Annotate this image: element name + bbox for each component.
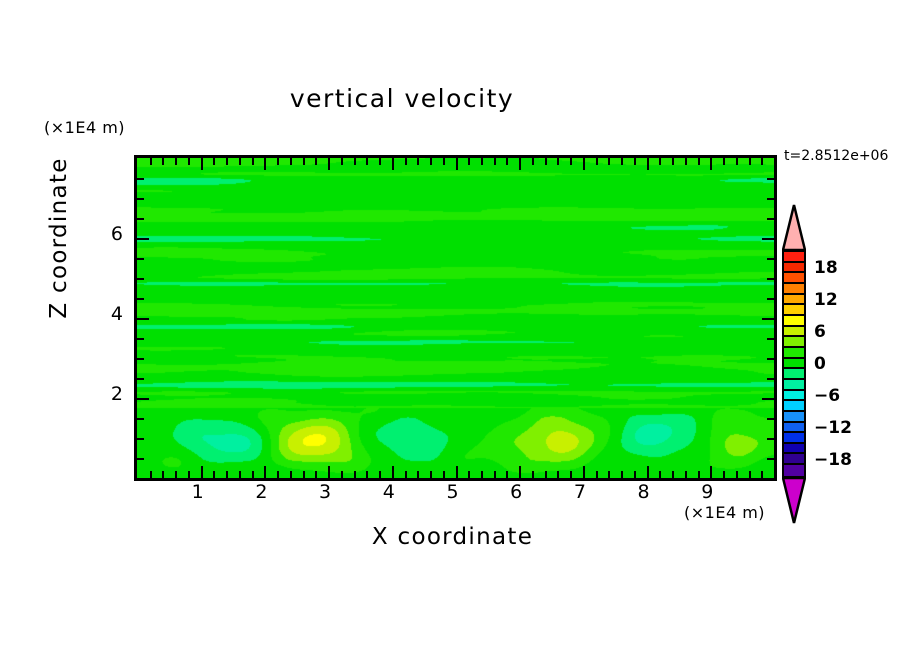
x-minor-tick [659, 471, 661, 478]
x-tick-label: 4 [369, 481, 409, 503]
x-tick-label: 2 [241, 481, 281, 503]
x-minor-tick-top [354, 158, 356, 165]
x-minor-tick-top [405, 158, 407, 165]
x-minor-tick [532, 471, 534, 478]
x-minor-tick-top [150, 158, 152, 165]
x-major-tick [456, 466, 458, 478]
y-minor-tick [137, 198, 144, 200]
x-minor-tick [405, 471, 407, 478]
y-tick-label: 6 [95, 223, 123, 245]
x-major-tick [519, 466, 521, 478]
x-minor-tick-top [672, 158, 674, 165]
x-minor-tick [430, 471, 432, 478]
x-axis-title: X coordinate [134, 524, 771, 550]
x-major-tick [647, 466, 649, 478]
colorbar-band [784, 295, 804, 306]
colorbar-band [784, 284, 804, 295]
x-minor-tick-top [736, 158, 738, 165]
x-minor-tick-top [481, 158, 483, 165]
x-major-tick-top [710, 158, 712, 170]
colorbar-tick-label: 12 [814, 290, 838, 310]
x-minor-tick [315, 471, 317, 478]
x-minor-tick-top [608, 158, 610, 165]
x-minor-tick [175, 471, 177, 478]
x-minor-tick [303, 471, 305, 478]
x-major-tick [583, 466, 585, 478]
page-title: vertical velocity [0, 84, 904, 113]
x-minor-tick [608, 471, 610, 478]
colorbar [782, 205, 806, 523]
colorbar-band [784, 252, 804, 263]
x-major-tick [201, 466, 203, 478]
x-tick-label: 7 [560, 481, 600, 503]
colorbar-band [784, 412, 804, 423]
x-minor-tick [162, 471, 164, 478]
x-minor-tick [341, 471, 343, 478]
x-minor-tick-top [341, 158, 343, 165]
x-minor-tick-top [685, 158, 687, 165]
y-major-tick-right [762, 318, 774, 320]
x-major-tick [328, 466, 330, 478]
colorbar-band [784, 423, 804, 434]
x-minor-tick-top [366, 158, 368, 165]
x-tick-label: 3 [305, 481, 345, 503]
x-minor-tick [188, 471, 190, 478]
y-axis-units-label: (×1E4 m) [44, 118, 125, 137]
x-minor-tick-top [417, 158, 419, 165]
y-minor-tick [137, 338, 144, 340]
y-minor-tick-right [767, 218, 774, 220]
colorbar-band [784, 359, 804, 370]
x-minor-tick [354, 471, 356, 478]
y-minor-tick-right [767, 198, 774, 200]
x-minor-tick-top [290, 158, 292, 165]
x-minor-tick-top [277, 158, 279, 165]
x-minor-tick [277, 471, 279, 478]
x-minor-tick [761, 471, 763, 478]
x-minor-tick-top [570, 158, 572, 165]
y-minor-tick [137, 358, 144, 360]
x-major-tick [264, 466, 266, 478]
x-minor-tick [634, 471, 636, 478]
x-minor-tick [213, 471, 215, 478]
y-minor-tick [137, 298, 144, 300]
x-minor-tick-top [761, 158, 763, 165]
x-minor-tick [506, 471, 508, 478]
y-minor-tick-right [767, 178, 774, 180]
colorbar-band [784, 433, 804, 444]
colorbar-band [784, 465, 804, 476]
x-minor-tick-top [723, 158, 725, 165]
x-major-tick-top [328, 158, 330, 170]
contour-plot-area [134, 155, 777, 481]
x-minor-tick-top [545, 158, 547, 165]
x-minor-tick-top [596, 158, 598, 165]
y-minor-tick-right [767, 438, 774, 440]
x-minor-tick-top [749, 158, 751, 165]
colorbar-band [784, 305, 804, 316]
x-minor-tick-top [621, 158, 623, 165]
x-minor-tick [570, 471, 572, 478]
y-minor-tick [137, 218, 144, 220]
colorbar-band [784, 380, 804, 391]
y-minor-tick-right [767, 418, 774, 420]
colorbar-tick-label: −18 [814, 450, 852, 470]
x-minor-tick-top [443, 158, 445, 165]
colorbar-band [784, 454, 804, 465]
colorbar-band [784, 337, 804, 348]
x-minor-tick [723, 471, 725, 478]
x-minor-tick [672, 471, 674, 478]
x-minor-tick [226, 471, 228, 478]
x-tick-label: 5 [433, 481, 473, 503]
x-minor-tick-top [162, 158, 164, 165]
colorbar-tick-label: −12 [814, 418, 852, 438]
colorbar-band [784, 316, 804, 327]
y-minor-tick [137, 418, 144, 420]
x-tick-label: 1 [178, 481, 218, 503]
x-minor-tick [596, 471, 598, 478]
x-tick-label: 6 [496, 481, 536, 503]
x-minor-tick [239, 471, 241, 478]
figure-root: vertical velocity (×1E4 m) (×1E4 m) t=2.… [0, 0, 904, 654]
x-major-tick-top [583, 158, 585, 170]
y-minor-tick-right [767, 358, 774, 360]
x-minor-tick-top [506, 158, 508, 165]
x-major-tick-top [519, 158, 521, 170]
y-minor-tick [137, 438, 144, 440]
x-minor-tick [290, 471, 292, 478]
y-minor-tick [137, 178, 144, 180]
x-minor-tick-top [379, 158, 381, 165]
x-major-tick [710, 466, 712, 478]
x-minor-tick [150, 471, 152, 478]
x-minor-tick [443, 471, 445, 478]
x-minor-tick-top [557, 158, 559, 165]
y-tick-label: 4 [95, 303, 123, 325]
plot-title-text: vertical velocity [290, 84, 514, 113]
y-major-tick-right [762, 238, 774, 240]
colorbar-band [784, 263, 804, 274]
x-minor-tick [621, 471, 623, 478]
x-minor-tick-top [532, 158, 534, 165]
colorbar-bands [782, 250, 806, 478]
x-tick-label: 8 [624, 481, 664, 503]
x-minor-tick [698, 471, 700, 478]
x-minor-tick [685, 471, 687, 478]
colorbar-band [784, 401, 804, 412]
colorbar-over-arrow-icon [782, 204, 806, 251]
y-minor-tick-right [767, 258, 774, 260]
x-axis-units-label: (×1E4 m) [684, 503, 765, 522]
x-major-tick-top [456, 158, 458, 170]
y-minor-tick-right [767, 298, 774, 300]
x-minor-tick [417, 471, 419, 478]
colorbar-band [784, 369, 804, 380]
colorbar-band [784, 273, 804, 284]
x-minor-tick-top [430, 158, 432, 165]
x-minor-tick-top [659, 158, 661, 165]
x-minor-tick [557, 471, 559, 478]
x-minor-tick [252, 471, 254, 478]
y-minor-tick [137, 278, 144, 280]
colorbar-tick-label: 18 [814, 258, 838, 278]
x-minor-tick [545, 471, 547, 478]
x-major-tick-top [264, 158, 266, 170]
x-tick-label: 9 [687, 481, 727, 503]
x-minor-tick [749, 471, 751, 478]
x-minor-tick-top [252, 158, 254, 165]
x-minor-tick-top [303, 158, 305, 165]
x-minor-tick-top [634, 158, 636, 165]
y-minor-tick [137, 258, 144, 260]
x-minor-tick-top [494, 158, 496, 165]
x-major-tick-top [647, 158, 649, 170]
x-minor-tick [379, 471, 381, 478]
x-minor-tick-top [213, 158, 215, 165]
colorbar-band [784, 444, 804, 455]
y-minor-tick-right [767, 378, 774, 380]
colorbar-band [784, 327, 804, 338]
contour-field-canvas [137, 158, 774, 478]
x-minor-tick [366, 471, 368, 478]
x-minor-tick-top [468, 158, 470, 165]
y-minor-tick-right [767, 338, 774, 340]
colorbar-band [784, 391, 804, 402]
y-major-tick [137, 398, 149, 400]
y-axis-title: Z coordinate [46, 143, 72, 333]
x-major-tick-top [392, 158, 394, 170]
colorbar-tick-label: 6 [814, 322, 826, 342]
x-minor-tick-top [175, 158, 177, 165]
y-major-tick [137, 318, 149, 320]
x-major-tick [392, 466, 394, 478]
colorbar-tick-label: −6 [814, 386, 840, 406]
colorbar-band [784, 348, 804, 359]
x-minor-tick-top [188, 158, 190, 165]
colorbar-under-arrow-icon [782, 477, 806, 524]
y-minor-tick-right [767, 278, 774, 280]
y-major-tick [137, 238, 149, 240]
y-minor-tick-right [767, 458, 774, 460]
x-minor-tick-top [315, 158, 317, 165]
x-minor-tick [494, 471, 496, 478]
x-minor-tick [481, 471, 483, 478]
x-major-tick-top [201, 158, 203, 170]
x-minor-tick-top [239, 158, 241, 165]
y-major-tick-right [762, 398, 774, 400]
x-minor-tick-top [698, 158, 700, 165]
timestamp-label: t=2.8512e+06 [784, 148, 888, 164]
x-minor-tick [468, 471, 470, 478]
x-minor-tick-top [226, 158, 228, 165]
y-minor-tick [137, 458, 144, 460]
colorbar-tick-label: 0 [814, 354, 826, 374]
y-minor-tick [137, 378, 144, 380]
y-tick-label: 2 [95, 383, 123, 405]
x-minor-tick [736, 471, 738, 478]
